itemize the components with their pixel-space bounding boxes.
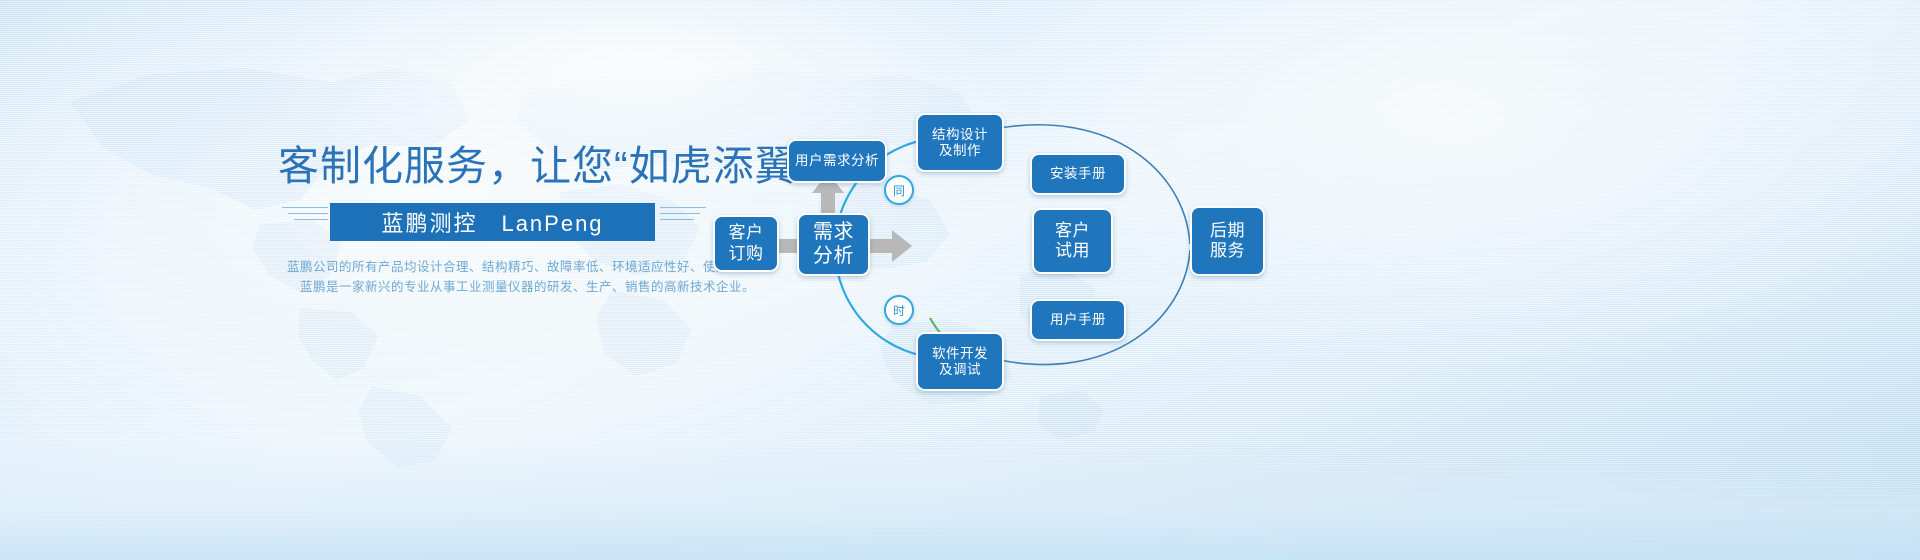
node-structural-design[interactable]: 结构设计 及制作: [916, 113, 1004, 172]
node-label: 后期 服务: [1210, 221, 1245, 261]
node-label: 客户 订购: [729, 223, 764, 263]
node-installation-manual[interactable]: 安装手册: [1030, 153, 1126, 195]
custom-service-banner: 客制化服务，让您“如虎添翼” 蓝鹏测控 LanPeng 蓝鹏公司的所有产品均设计…: [0, 0, 1920, 560]
node-requirement-analysis[interactable]: 需求 分析: [797, 213, 870, 276]
node-label: 客户 试用: [1055, 221, 1090, 261]
node-customer-order[interactable]: 客户 订购: [713, 215, 779, 272]
service-flowchart: 用户需求分析 客户 订购 需求 分析 结构设计 及制作 软件开发 及调试 安装手…: [0, 0, 1920, 560]
node-label: 需求 分析: [813, 221, 854, 268]
badge-label: 同: [893, 182, 905, 199]
badge-tong: 同: [884, 175, 914, 205]
node-label: 用户手册: [1050, 312, 1106, 328]
node-label: 结构设计 及制作: [932, 127, 988, 159]
node-user-requirement-analysis[interactable]: 用户需求分析: [787, 139, 887, 183]
flow-connectors: [0, 0, 1920, 560]
node-after-service[interactable]: 后期 服务: [1190, 206, 1265, 276]
badge-label: 时: [893, 302, 905, 319]
badge-shi: 时: [884, 295, 914, 325]
node-customer-trial[interactable]: 客户 试用: [1032, 208, 1113, 274]
node-label: 安装手册: [1050, 166, 1106, 182]
node-label: 用户需求分析: [795, 153, 879, 169]
node-software-development[interactable]: 软件开发 及调试: [916, 332, 1004, 391]
node-user-manual[interactable]: 用户手册: [1030, 299, 1126, 341]
node-label: 软件开发 及调试: [932, 346, 988, 378]
